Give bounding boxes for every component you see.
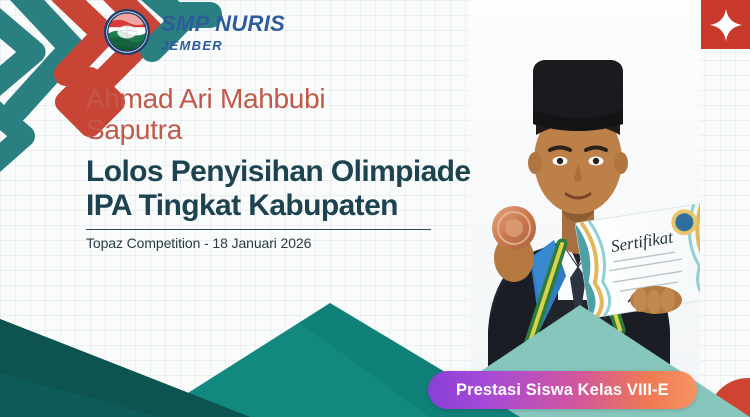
- poster-content: Ahmad Ari Mahbubi Saputra Lolos Penyisih…: [86, 83, 506, 251]
- class-banner: Prestasi Siswa Kelas VIII-E: [428, 371, 697, 409]
- brand-header: NURIS SMP NURIS JEMBER: [103, 8, 285, 56]
- divider-rule: [86, 229, 431, 231]
- achievement-headline: Lolos Penyisihan Olimpiade IPA Tingkat K…: [86, 155, 486, 223]
- brand-title: SMP NURIS: [161, 13, 285, 35]
- sparkle-icon: [709, 8, 743, 42]
- brand-subtitle: JEMBER: [161, 39, 285, 52]
- event-subtitle: Topaz Competition - 18 Januari 2026: [86, 235, 506, 251]
- bronze-medal: [492, 206, 536, 250]
- sparkle-badge: [701, 0, 750, 49]
- school-crest-icon: NURIS: [103, 8, 151, 56]
- achievement-poster: NURIS SMP NURIS JEMBER Ahmad Ari Mahbubi…: [0, 0, 750, 417]
- student-name: Ahmad Ari Mahbubi Saputra: [86, 83, 416, 146]
- class-banner-label: Prestasi Siswa Kelas VIII-E: [456, 381, 669, 400]
